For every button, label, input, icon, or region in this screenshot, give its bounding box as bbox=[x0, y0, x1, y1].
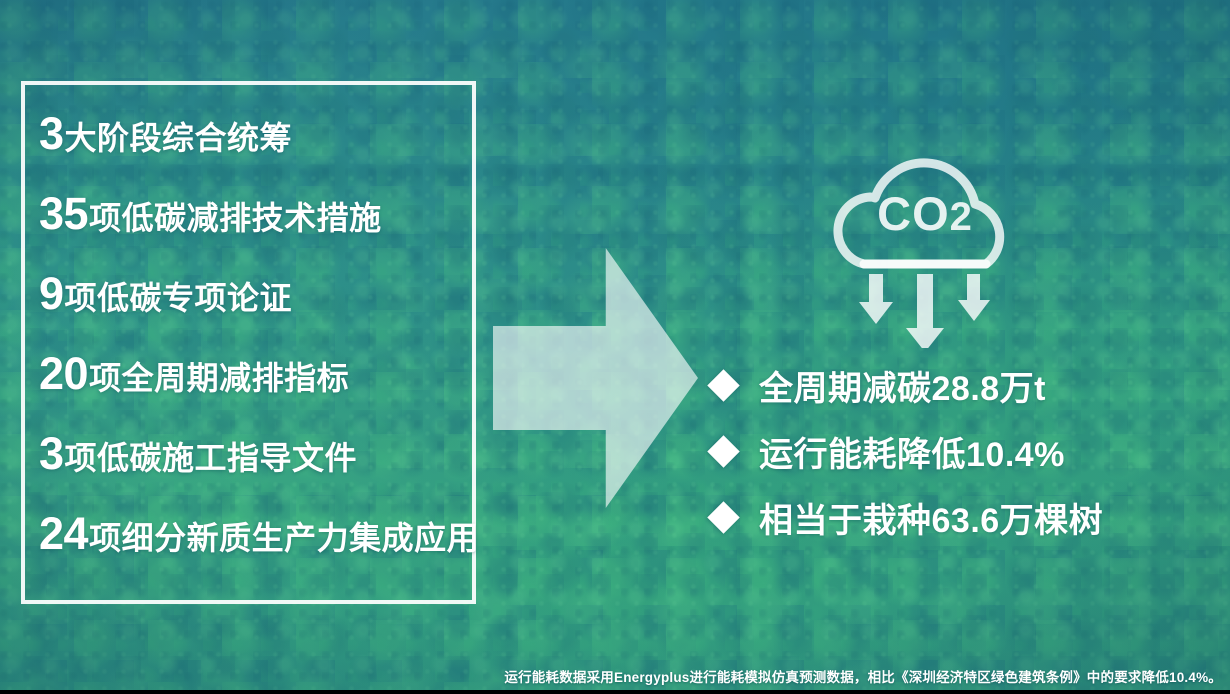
measure-label: 项低碳减排技术措施 bbox=[89, 202, 382, 234]
measure-number: 35 bbox=[39, 191, 88, 236]
list-item: 3 大阶段综合统筹 bbox=[39, 111, 464, 191]
arrow-down-right-icon bbox=[958, 274, 990, 321]
list-item: 9 项低碳专项论证 bbox=[39, 271, 464, 351]
list-item: 相当于栽种63.6万棵树 bbox=[712, 484, 1212, 550]
list-item: 3 项低碳施工指导文件 bbox=[39, 431, 464, 511]
arrow-down-left-icon bbox=[859, 274, 893, 324]
footnote-text: 运行能耗数据采用Energyplus进行能耗模拟仿真预测数据，相比《深圳经济特区… bbox=[0, 666, 1222, 686]
list-item: 35 项低碳减排技术措施 bbox=[39, 191, 464, 271]
measure-label: 项低碳专项论证 bbox=[65, 282, 293, 314]
list-item: 24 项细分新质生产力集成应用 bbox=[39, 511, 464, 591]
co2-cloud-icon: CO2 bbox=[800, 128, 1050, 348]
co2-subscript: 2 bbox=[950, 195, 973, 239]
measure-number: 9 bbox=[39, 271, 64, 316]
falling-arrows bbox=[859, 274, 990, 348]
carbon-results-list: 全周期减碳28.8万t 运行能耗降低10.4% 相当于栽种63.6万棵树 bbox=[712, 352, 1212, 550]
measure-number: 24 bbox=[39, 511, 88, 556]
measure-number: 20 bbox=[39, 351, 88, 396]
measure-label: 项细分新质生产力集成应用 bbox=[89, 522, 479, 554]
diamond-bullet-icon bbox=[707, 435, 740, 468]
diamond-bullet-icon bbox=[707, 369, 740, 402]
measure-label: 大阶段综合统筹 bbox=[65, 122, 293, 154]
co2-text: CO2 bbox=[800, 186, 1050, 241]
result-label: 全周期减碳28.8万t bbox=[759, 361, 1046, 410]
bottom-edge-bar bbox=[0, 690, 1230, 694]
co2-main: CO bbox=[877, 187, 950, 240]
list-item: 20 项全周期减排指标 bbox=[39, 351, 464, 431]
measure-number: 3 bbox=[39, 431, 64, 476]
measure-number: 3 bbox=[39, 111, 64, 156]
arrow-down-center-icon bbox=[906, 274, 944, 348]
list-item: 全周期减碳28.8万t bbox=[712, 352, 1212, 418]
measure-label: 项低碳施工指导文件 bbox=[65, 442, 358, 474]
diamond-bullet-icon bbox=[707, 501, 740, 534]
measures-list: 3 大阶段综合统筹 35 项低碳减排技术措施 9 项低碳专项论证 20 项全周期… bbox=[39, 111, 464, 591]
slide-canvas: 3 大阶段综合统筹 35 项低碳减排技术措施 9 项低碳专项论证 20 项全周期… bbox=[0, 0, 1230, 694]
result-label: 运行能耗降低10.4% bbox=[759, 427, 1065, 476]
result-label: 相当于栽种63.6万棵树 bbox=[759, 493, 1103, 542]
low-carbon-measures-panel: 3 大阶段综合统筹 35 项低碳减排技术措施 9 项低碳专项论证 20 项全周期… bbox=[21, 81, 476, 604]
measure-label: 项全周期减排指标 bbox=[89, 362, 349, 394]
list-item: 运行能耗降低10.4% bbox=[712, 418, 1212, 484]
